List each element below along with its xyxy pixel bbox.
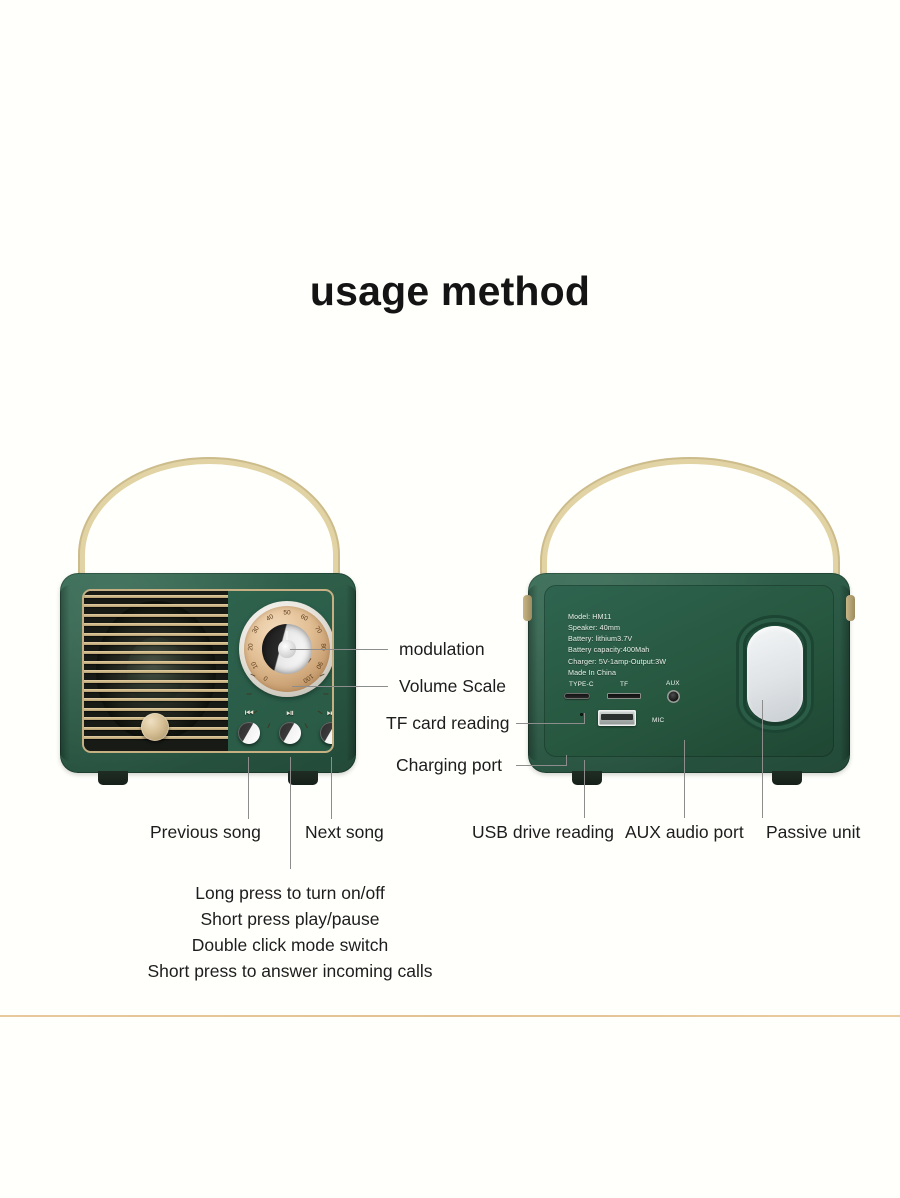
next-knob[interactable]: [320, 722, 334, 744]
tf-card-slot[interactable]: [607, 693, 641, 699]
grille-slat: [84, 614, 228, 617]
previous-knob[interactable]: [238, 722, 260, 744]
back-unit: Model: HM11Speaker: 40mmBattery: lithium…: [520, 455, 860, 815]
spec-line: Battery: lithium3.7V: [568, 633, 666, 644]
dial-scale-number: 10: [250, 660, 259, 670]
spec-line: Model: HM11: [568, 611, 666, 622]
back-panel: Model: HM11Speaker: 40mmBattery: lithium…: [544, 585, 834, 757]
volume-knob[interactable]: [141, 713, 169, 741]
front-unit: 0102030405060708090100 ⏮ ⏯ ⏭: [60, 455, 360, 815]
port-label-tf: TF: [620, 681, 628, 688]
instruction-line-2: Short press play/pause: [0, 911, 580, 929]
dial-scale-number: 70: [313, 625, 323, 635]
play-pause-knob[interactable]: [279, 722, 301, 744]
foot-left: [98, 771, 128, 785]
grille-slat: [84, 708, 228, 711]
port-label-aux: AUX: [666, 680, 680, 687]
leader-aux-audio-port: [684, 740, 685, 818]
section-divider: [0, 1015, 900, 1017]
foot-left-back: [572, 771, 602, 785]
speaker-body: 0102030405060708090100 ⏮ ⏯ ⏭: [60, 573, 356, 773]
leader-modulation: [290, 649, 388, 650]
next-button[interactable]: ⏭: [316, 709, 334, 744]
play-pause-button[interactable]: ⏯: [275, 709, 305, 744]
grille-slat: [84, 642, 228, 645]
leader-previous-song: [248, 757, 249, 819]
usb-port[interactable]: [598, 710, 636, 726]
spec-line: Speaker: 40mm: [568, 622, 666, 633]
mic-hole: [580, 713, 583, 716]
spec-line: Made In China: [568, 667, 666, 678]
instruction-line-1: Long press to turn on/off: [0, 885, 580, 903]
callout-passive-unit: Passive unit: [766, 824, 860, 842]
foot-right: [288, 771, 318, 785]
speaker-body-back: Model: HM11Speaker: 40mmBattery: lithium…: [528, 573, 850, 773]
dial-scale-number: 40: [265, 613, 275, 623]
radiator-membrane: [747, 626, 803, 722]
leader-charging-port: [516, 765, 566, 766]
instruction-line-4: Short press to answer incoming calls: [0, 963, 580, 981]
body-edge-right: [346, 585, 356, 761]
callout-previous-song: Previous song: [150, 824, 261, 842]
leader-volume-scale: [292, 686, 388, 687]
next-track-icon: ⏭: [316, 709, 334, 719]
grille-slat: [84, 623, 228, 626]
grille-slat: [84, 680, 228, 683]
dial-scale-number: 90: [315, 660, 324, 670]
previous-track-icon: ⏮: [234, 709, 264, 719]
dial-scale-number: 60: [300, 613, 310, 623]
handle-hinge-left: [523, 595, 532, 621]
leader-play-pause: [290, 757, 291, 869]
foot-right-back: [772, 771, 802, 785]
infographic-page: usage method 01020304050607080901: [0, 0, 900, 1198]
callout-usb-drive-reading: USB drive reading: [472, 824, 614, 842]
port-label-mic: MIC: [652, 717, 664, 724]
instruction-line-3: Double click mode switch: [0, 937, 580, 955]
grille-slat: [84, 633, 228, 636]
spec-line: Battery capacity:400Mah: [568, 644, 666, 655]
dial-scale-number: 50: [283, 610, 290, 617]
callout-volume-scale: Volume Scale: [399, 678, 506, 696]
body-edge-left: [60, 585, 70, 761]
grille-slat: [84, 604, 228, 607]
grille-slat: [84, 595, 228, 598]
grille-slat: [84, 651, 228, 654]
dial-scale-number: 20: [247, 643, 254, 651]
passive-radiator: [736, 615, 814, 733]
callout-tf-card-reading: TF card reading: [386, 715, 510, 733]
leader-tf-vert: [584, 713, 585, 724]
play-pause-icon: ⏯: [275, 709, 305, 719]
grille-slat: [84, 670, 228, 673]
grille-slat: [84, 661, 228, 664]
grille-slat: [84, 689, 228, 692]
page-title: usage method: [0, 268, 900, 315]
grille-slat: [84, 698, 228, 701]
aux-port[interactable]: [667, 690, 680, 703]
leader-tf-card-reading: [516, 723, 584, 724]
previous-button[interactable]: ⏮: [234, 709, 264, 744]
leader-passive-unit: [762, 700, 763, 818]
callout-aux-audio-port: AUX audio port: [625, 824, 744, 842]
callout-charging-port: Charging port: [396, 757, 502, 775]
callout-next-song: Next song: [305, 824, 384, 842]
port-label-type-c: TYPE-C: [569, 681, 594, 688]
type-c-port[interactable]: [564, 693, 590, 699]
callout-modulation: modulation: [399, 641, 485, 659]
spec-line: Charger: 5V-1amp-Output:3W: [568, 656, 666, 667]
front-panel: 0102030405060708090100 ⏮ ⏯ ⏭: [82, 589, 334, 753]
leader-usb-drive-reading: [584, 760, 585, 818]
leader-next-song: [331, 757, 332, 819]
handle-hinge-right: [846, 595, 855, 621]
spec-label: Model: HM11Speaker: 40mmBattery: lithium…: [568, 611, 666, 678]
dial-scale-number: 30: [252, 625, 262, 635]
leader-charging-vert: [566, 755, 567, 766]
